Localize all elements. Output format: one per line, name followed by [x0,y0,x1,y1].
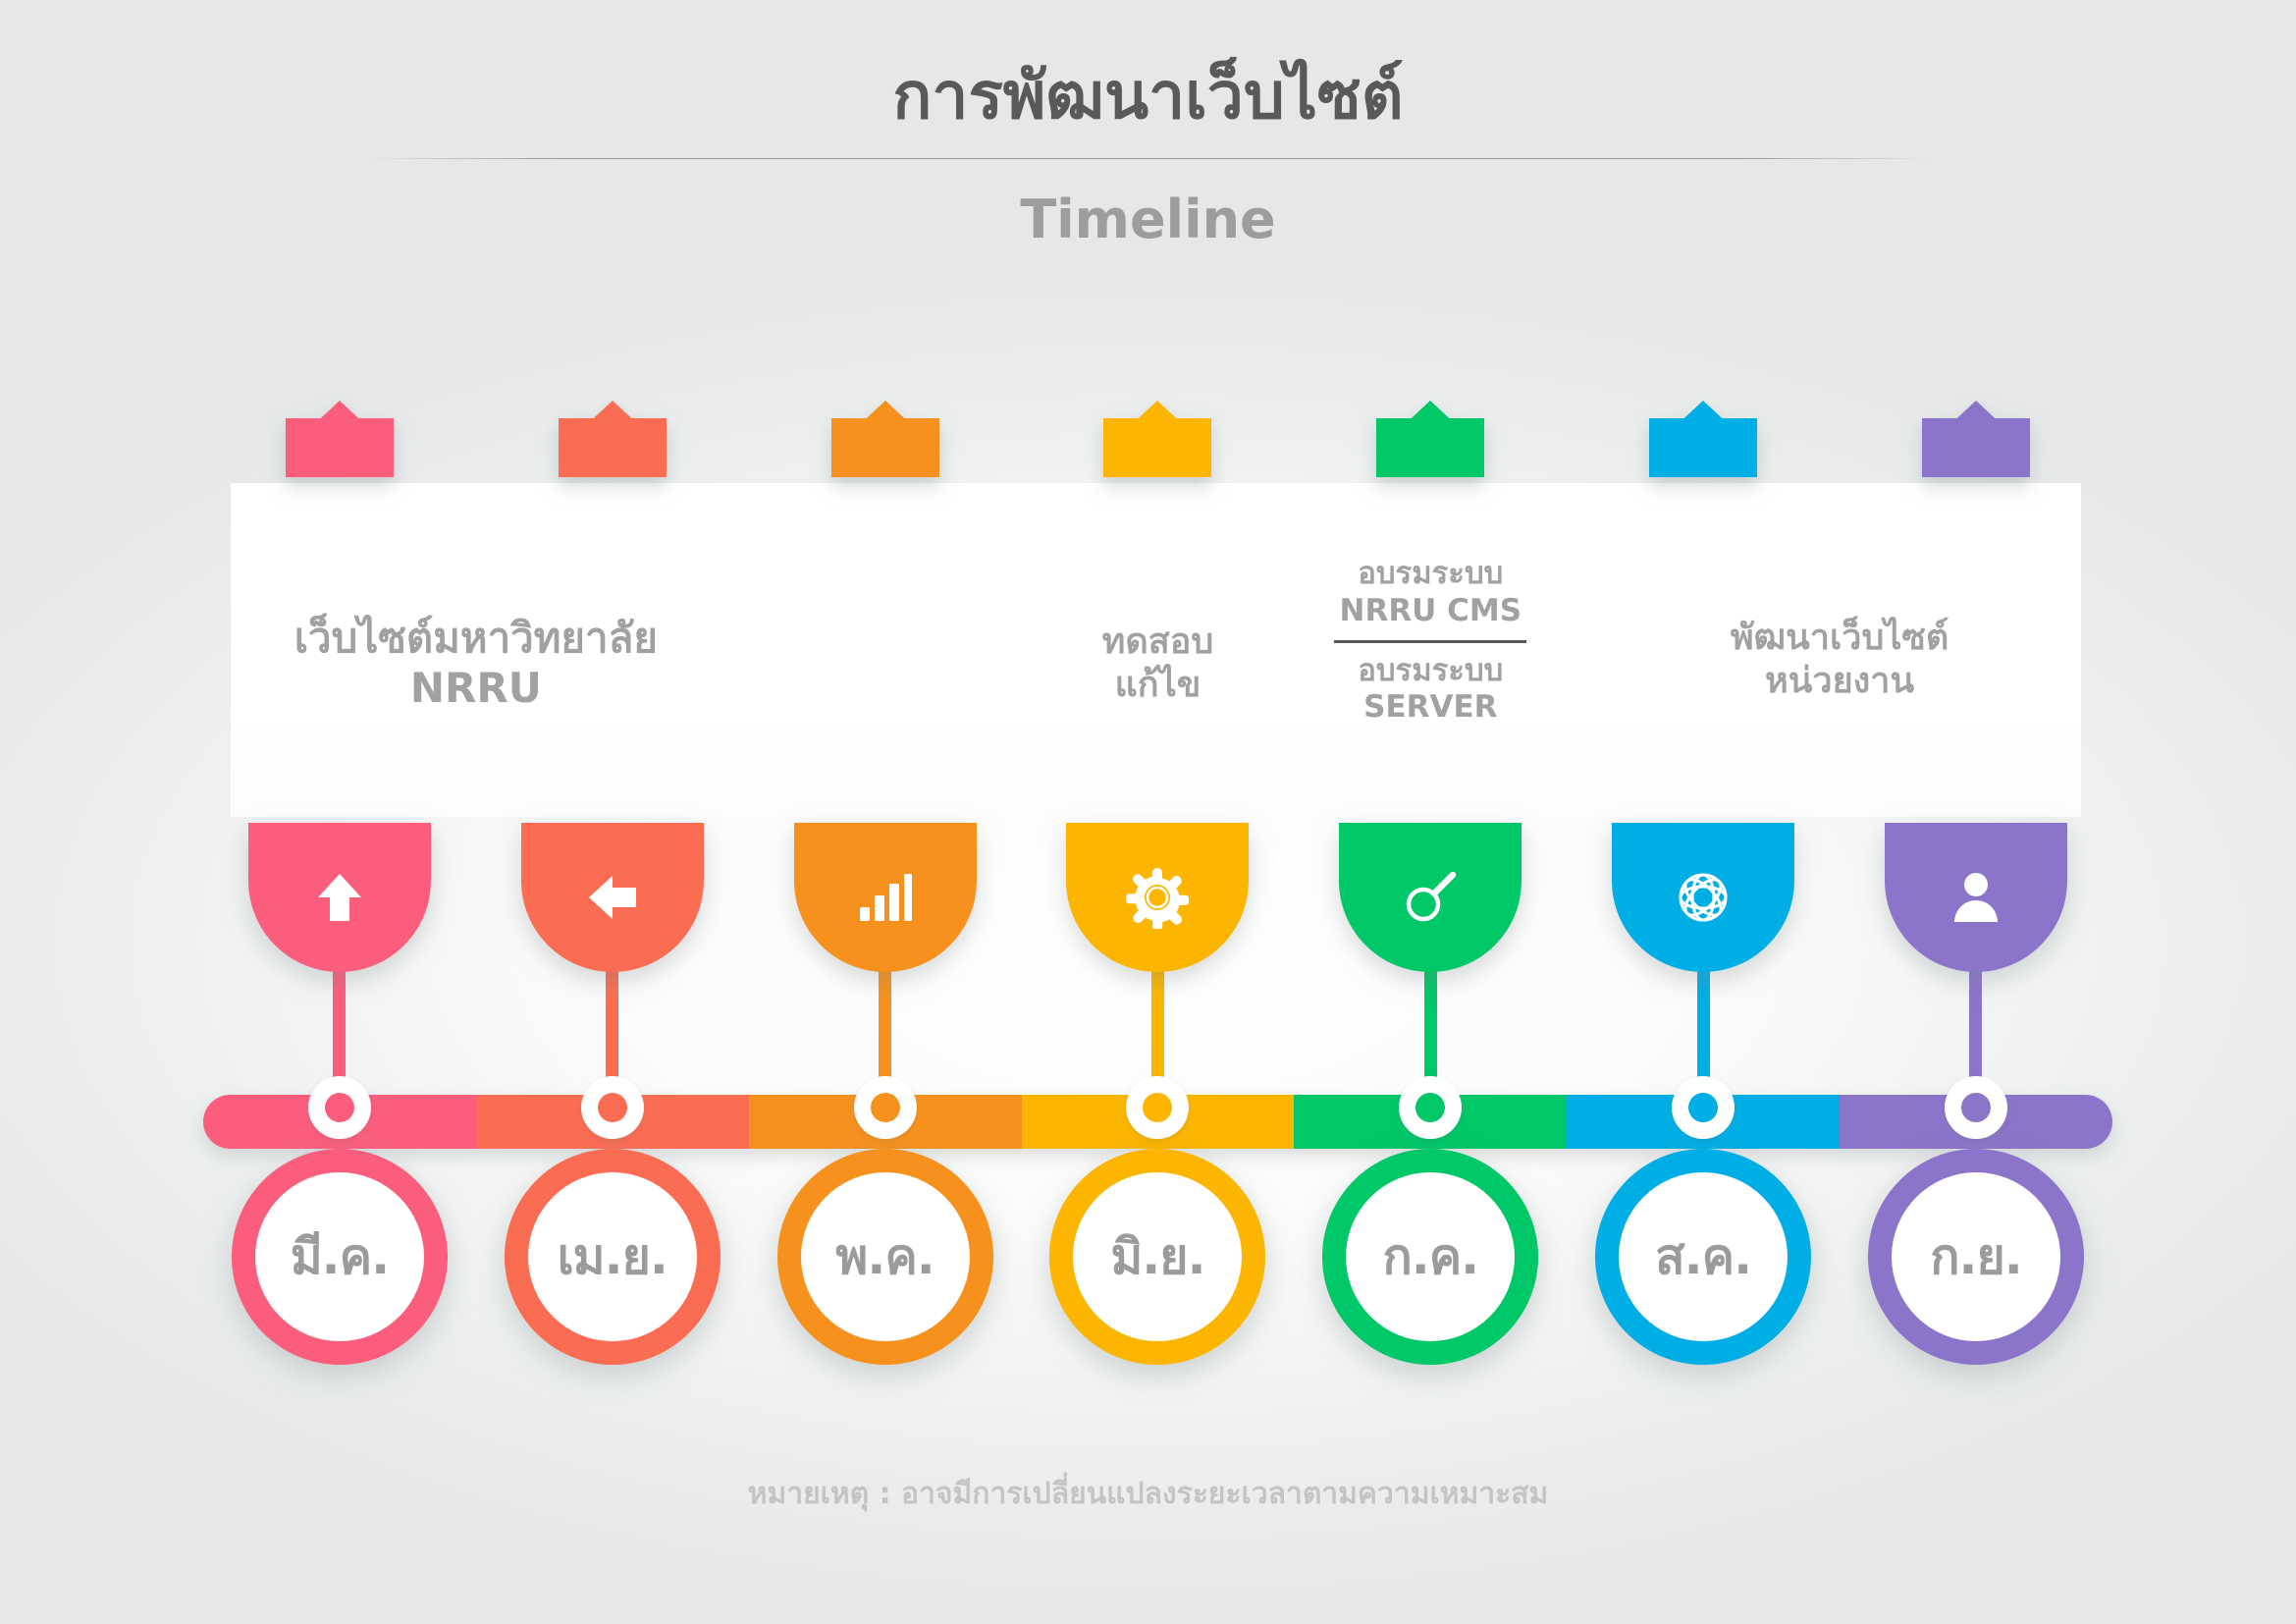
dot-column-4 [1022,1076,1295,1139]
flag-column-2 [476,401,749,477]
month-column-2[interactable]: เม.ย. [476,1149,749,1365]
connector-dot [325,1093,354,1122]
month-label: ก.ย. [1892,1172,2060,1341]
connector-dot [871,1093,900,1122]
magnifier-icon [1399,866,1462,929]
shield-purple[interactable] [1885,823,2067,972]
flag-marker-pink [286,401,394,477]
month-column-6[interactable]: ส.ค. [1567,1149,1840,1365]
shield-pink[interactable] [248,823,431,972]
flag-body [1649,418,1757,477]
flag-marker-row [203,401,2112,477]
arrow-left-icon [581,866,644,929]
month-column-3[interactable]: พ.ค. [749,1149,1022,1365]
dot-column-2 [476,1076,749,1139]
flag-column-7 [1840,401,2112,477]
dot-column-1 [203,1076,476,1139]
connector-ring [1672,1076,1735,1139]
connector-dot-row [203,1076,2112,1139]
flag-marker-blue [1649,401,1757,477]
connector-dot [1143,1093,1172,1122]
month-ring-august[interactable]: ส.ค. [1595,1149,1811,1365]
connector-ring [1126,1076,1189,1139]
flag-body [831,418,939,477]
shield-stem [1151,970,1164,1086]
month-label: มิ.ย. [1073,1172,1242,1341]
shield-blue[interactable] [1612,823,1794,972]
dot-column-7 [1840,1076,2112,1139]
shield-column-1[interactable] [203,823,476,1086]
shield-orange[interactable] [794,823,977,972]
flag-column-3 [749,401,1022,477]
month-label: พ.ค. [801,1172,970,1341]
flag-body [1922,418,2030,477]
shield-column-6[interactable] [1567,823,1840,1086]
month-ring-may[interactable]: พ.ค. [777,1149,993,1365]
title-divider [368,158,1929,159]
flag-body [559,418,667,477]
month-circle-row: มี.ค. เม.ย. พ.ค. มิ.ย. ก.ค. ส.ค. [203,1149,2112,1365]
month-column-5[interactable]: ก.ค. [1294,1149,1567,1365]
shield-stem [333,970,346,1086]
shield-amber[interactable] [1066,823,1249,972]
label-training-cms-line1: อบรมระบบ [1294,556,1567,593]
month-label: ก.ค. [1346,1172,1515,1341]
flag-marker-orange [831,401,939,477]
shield-stem [1424,970,1437,1086]
month-column-4[interactable]: มิ.ย. [1022,1149,1295,1365]
page-subtitle: Timeline [0,189,2296,250]
shield-column-2[interactable] [476,823,749,1086]
label-develop-line2: หน่วยงาน [1567,660,2112,703]
shield-column-3[interactable] [749,823,1022,1086]
connector-dot [1961,1093,1991,1122]
label-training: อบรมระบบ NRRU CMS อบรมระบบ SERVER [1294,511,1567,727]
label-website-nrru: เว็บไซต์มหาวิทยาลัย NRRU [203,511,749,727]
connector-ring [854,1076,917,1139]
label-develop-dept: พัฒนาเว็บไซต์ หน่วยงาน [1567,511,2112,727]
label-test-line1: ทดสอบ [1022,621,1295,664]
globe-icon [1672,866,1735,929]
shield-stem [606,970,618,1086]
connector-ring [308,1076,371,1139]
shield-column-7[interactable] [1840,823,2112,1086]
training-divider [1334,640,1526,643]
label-website-line2: NRRU [203,663,749,713]
flag-body [286,418,394,477]
label-test-line2: แก้ไข [1022,664,1295,707]
month-label: เม.ย. [528,1172,697,1341]
label-website-line1: เว็บไซต์มหาวิทยาลัย [203,613,749,663]
label-training-server-line1: อบรมระบบ [1294,653,1567,690]
flag-marker-green [1376,401,1484,477]
label-spacer [749,511,1022,727]
shield-column-5[interactable] [1294,823,1567,1086]
month-ring-july[interactable]: ก.ค. [1322,1149,1538,1365]
connector-ring [1399,1076,1462,1139]
bar-chart-icon [854,866,917,929]
arrow-up-icon [308,866,371,929]
flag-marker-coral [559,401,667,477]
label-training-cms-line2: NRRU CMS [1294,593,1567,630]
connector-dot [1415,1093,1445,1122]
connector-ring [581,1076,644,1139]
flag-column-5 [1294,401,1567,477]
shield-stem [879,970,891,1086]
person-icon [1945,866,2007,929]
month-label: ส.ค. [1619,1172,1788,1341]
month-ring-june[interactable]: มิ.ย. [1049,1149,1265,1365]
footer-note: หมายเหตุ : อาจมีการเปลี่ยนแปลงระยะเวลาตา… [0,1471,2296,1517]
header: การพัฒนาเว็บไซต์ Timeline [0,61,2296,250]
month-column-1[interactable]: มี.ค. [203,1149,476,1365]
label-training-server-line2: SERVER [1294,689,1567,727]
connector-dot [1688,1093,1718,1122]
label-test-fix: ทดสอบ แก้ไข [1022,511,1295,727]
label-develop-line1: พัฒนาเว็บไซต์ [1567,617,2112,660]
flag-column-6 [1567,401,1840,477]
timeline-infographic: การพัฒนาเว็บไซต์ Timeline [0,0,2296,1624]
shield-green[interactable] [1339,823,1522,972]
shield-stem [1969,970,1982,1086]
shield-stem [1697,970,1710,1086]
flag-column-4 [1022,401,1295,477]
flag-body [1103,418,1211,477]
month-ring-march[interactable]: มี.ค. [232,1149,448,1365]
dot-column-5 [1294,1076,1567,1139]
gear-icon [1126,866,1189,929]
flag-column-1 [203,401,476,477]
phase-label-row: เว็บไซต์มหาวิทยาลัย NRRU ทดสอบ แก้ไข อบร… [203,511,2112,727]
dot-column-3 [749,1076,1022,1139]
dot-column-6 [1567,1076,1840,1139]
shield-coral[interactable] [521,823,704,972]
flag-marker-purple [1922,401,2030,477]
month-ring-april[interactable]: เม.ย. [505,1149,721,1365]
month-label: มี.ค. [255,1172,424,1341]
connector-dot [598,1093,627,1122]
month-ring-september[interactable]: ก.ย. [1868,1149,2084,1365]
shield-icon-row [203,823,2112,1086]
flag-marker-amber [1103,401,1211,477]
month-column-7[interactable]: ก.ย. [1840,1149,2112,1365]
page-title: การพัฒนาเว็บไซต์ [0,61,2296,133]
connector-ring [1945,1076,2007,1139]
shield-column-4[interactable] [1022,823,1295,1086]
flag-body [1376,418,1484,477]
